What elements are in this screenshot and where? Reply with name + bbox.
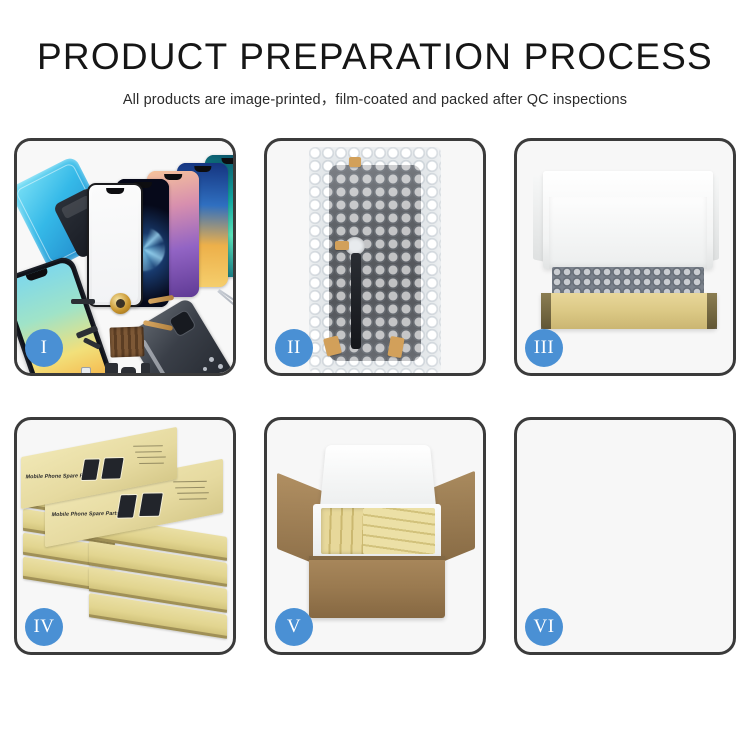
step-badge-6: VI bbox=[525, 608, 563, 646]
ic-chip-icon bbox=[105, 363, 118, 373]
process-step-panel-5: V bbox=[264, 417, 486, 655]
kraft-boxes-stacked-icon bbox=[363, 508, 435, 554]
page-title: PRODUCT PREPARATION PROCESS bbox=[0, 38, 750, 77]
box-artwork-swatch bbox=[117, 495, 137, 518]
carton-tape-patch-icon bbox=[517, 434, 533, 453]
connector-strip-icon bbox=[71, 299, 95, 304]
camera-module-icon bbox=[121, 367, 136, 373]
flex-cable-icon bbox=[351, 253, 361, 349]
box-artwork-swatch bbox=[81, 459, 99, 480]
tape-tab-icon bbox=[335, 241, 349, 250]
box-label-text: Mobile Phone Spare Parts bbox=[51, 511, 120, 518]
process-step-grid: I II III bbox=[14, 138, 736, 655]
process-step-panel-2: II bbox=[264, 138, 486, 376]
page-subtitle: All products are image-printed，film-coat… bbox=[0, 88, 750, 109]
process-step-panel-3: III bbox=[514, 138, 736, 376]
process-step-panel-4: Mobile Phone Spare Parts Mobile Phone Sp… bbox=[14, 417, 236, 655]
box-artwork-swatch bbox=[139, 493, 163, 516]
screw-icon bbox=[209, 357, 214, 362]
step-badge-4: IV bbox=[25, 608, 63, 646]
copper-coil-icon bbox=[110, 293, 131, 314]
foam-lid-icon bbox=[320, 445, 437, 511]
page-header: PRODUCT PREPARATION PROCESS All products… bbox=[0, 0, 750, 109]
step-badge-2: II bbox=[275, 329, 313, 367]
step-badge-3: III bbox=[525, 329, 563, 367]
kraft-box-base-icon bbox=[541, 293, 717, 329]
process-step-panel-1: I bbox=[14, 138, 236, 376]
process-step-panel-6: VI bbox=[514, 417, 736, 655]
sim-tray-icon bbox=[141, 363, 150, 373]
carton-top-face-icon bbox=[541, 450, 709, 516]
bubble-wrap-filler-icon bbox=[552, 267, 704, 295]
screw-icon bbox=[218, 364, 223, 369]
step-badge-5: V bbox=[275, 608, 313, 646]
tape-tab-icon bbox=[349, 157, 361, 167]
small-component-icon bbox=[81, 367, 91, 373]
chip-grid-icon bbox=[109, 326, 144, 357]
phone-glass-front-icon bbox=[87, 183, 143, 307]
box-artwork-swatch bbox=[101, 458, 123, 479]
foam-sheet-icon bbox=[549, 197, 707, 269]
step-badge-1: I bbox=[25, 329, 63, 367]
carton-front-panel-icon bbox=[309, 556, 445, 618]
screw-icon bbox=[203, 367, 207, 371]
